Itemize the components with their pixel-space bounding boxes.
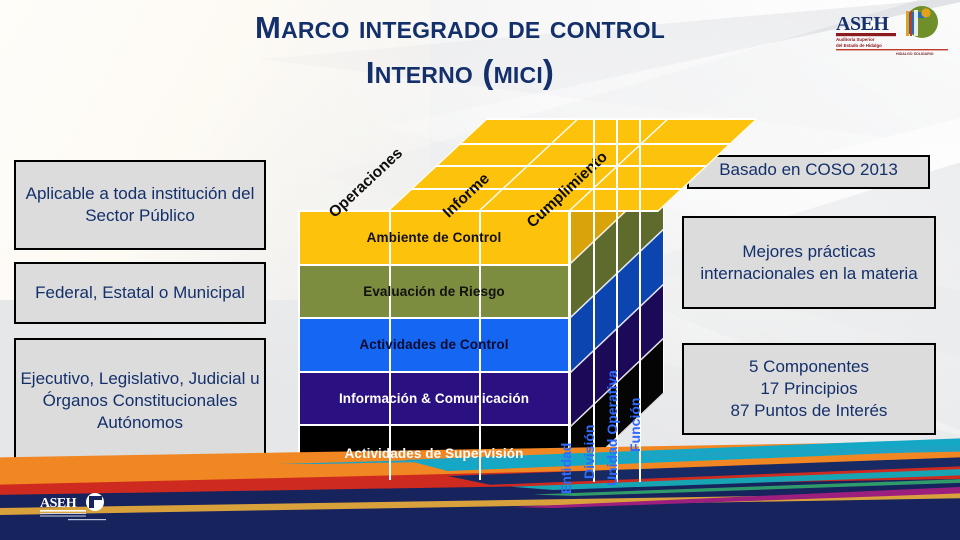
svg-text:Auditoría Superior: Auditoría Superior xyxy=(836,37,875,42)
slide-title-line-1: Marco Integrado de Control xyxy=(40,2,880,47)
aseh-logo: ASEH Auditoría Superior del Estado de Hi… xyxy=(834,4,952,58)
info-box-mejores-practicas-text: Mejores prácticas internacionales en la … xyxy=(684,241,934,285)
svg-text:del Estado de Hidalgo: del Estado de Hidalgo xyxy=(836,43,882,48)
cube-component-actividades-de-control: Actividades de Control xyxy=(300,319,568,373)
cube-top-label-informe: Informe xyxy=(440,170,494,222)
cube-component-informacion-y-comunicacion: Información & Comunicación xyxy=(300,373,568,427)
cube-component-evaluacion-de-riesgo: Evaluación de Riesgo xyxy=(300,266,568,320)
componentes-line-1: 5 Componentes xyxy=(749,357,869,376)
slide-title: Marco Integrado de Control Interno (MICI… xyxy=(40,2,880,92)
slide-canvas: Marco Integrado de Control Interno (MICI… xyxy=(0,0,960,540)
componentes-line-3: 87 Puntos de Interés xyxy=(731,401,888,420)
cube-component-label: Actividades de Control xyxy=(359,337,508,352)
info-box-mejores-practicas: Mejores prácticas internacionales en la … xyxy=(682,216,936,309)
cube-side-label-entidad: Entidad xyxy=(558,443,574,494)
slide-title-line-2: Interno (MICI) xyxy=(40,47,880,92)
svg-text:HIDALGO SOLIDARIO: HIDALGO SOLIDARIO xyxy=(896,52,934,56)
info-box-federal-text: Federal, Estatal o Municipal xyxy=(16,282,264,304)
cube-top-label-operaciones: Operaciones xyxy=(326,145,407,222)
svg-text:ASEH: ASEH xyxy=(836,13,889,35)
info-box-coso: Basado en COSO 2013 xyxy=(687,155,930,189)
cube-component-label: Información & Comunicación xyxy=(339,391,529,406)
info-box-federal: Federal, Estatal o Municipal xyxy=(14,262,266,324)
svg-text:ASEH: ASEH xyxy=(40,496,77,511)
info-box-aplicable: Aplicable a toda institución del Sector … xyxy=(14,160,266,250)
cube-side-label-funcion: Función xyxy=(627,398,643,452)
cube-side-label-division: División xyxy=(581,425,597,479)
info-box-coso-text: Basado en COSO 2013 xyxy=(689,159,928,181)
cube-side-label-unidad-operativa: Unidad Operativa xyxy=(604,370,620,486)
info-box-componentes-text: 5 Componentes 17 Principios 87 Puntos de… xyxy=(684,356,934,421)
cube-side-labels: Entidad División Unidad Operativa Funció… xyxy=(570,118,680,490)
componentes-line-2: 17 Principios xyxy=(760,379,857,398)
cube-component-label: Ambiente de Control xyxy=(367,230,502,245)
cube-component-label: Actividades de Supervisión xyxy=(345,446,524,461)
aseh-footer-logo: ASEH xyxy=(40,492,152,526)
cube-component-label: Evaluación de Riesgo xyxy=(363,284,505,299)
info-box-aplicable-text: Aplicable a toda institución del Sector … xyxy=(16,183,264,227)
